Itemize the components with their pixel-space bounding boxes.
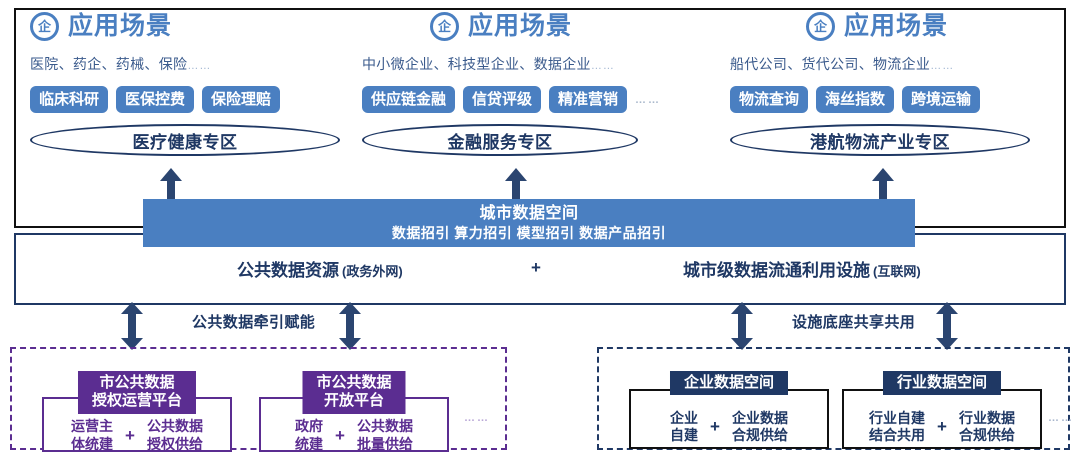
scenario-header: 企 应用场景 xyxy=(362,12,692,41)
public-data-group: 市公共数据 授权运营平台 运营主 体统建 + 公共数据 授权供给 市公共数据 开… xyxy=(10,347,507,450)
scenario-chip[interactable]: 供应链金融 xyxy=(362,86,455,113)
scenario-chip[interactable]: 保险理赔 xyxy=(202,86,280,113)
scenario-header: 企 应用场景 xyxy=(730,12,1048,41)
city-data-space-title: 城市数据空间 xyxy=(479,204,578,224)
diagram-canvas: 企 应用场景 医院、药企、药械、保险…… 临床科研 医保控费 保险理赔 医疗健康… xyxy=(0,0,1080,457)
scenario-chip[interactable]: 医保控费 xyxy=(116,86,194,113)
scenario-subtitle-text: 中小微企业、科技型企业、数据企业 xyxy=(362,56,591,72)
bi-arrow-left-outer xyxy=(120,302,144,350)
scenario-column-logistics: 企 应用场景 船代公司、货代公司、物流企业…… 物流查询 海丝指数 跨境运输 港… xyxy=(730,12,1048,172)
city-data-space-bar: 城市数据空间 数据招引 算力招引 模型招引 数据产品招引 xyxy=(143,199,915,247)
zone-ellipse-medical: 医疗健康专区 xyxy=(30,124,340,156)
unit-right-cell: 公共数据 批量供给 xyxy=(357,418,413,453)
zone-ellipse-finance: 金融服务专区 xyxy=(362,124,638,156)
public-data-resource-label: 公共数据资源 (政务外网) xyxy=(237,256,403,281)
scenario-title: 应用场景 xyxy=(468,14,572,39)
bi-arrow-right-outer xyxy=(730,302,754,350)
unit-left-cell: 政府 统建 xyxy=(295,418,323,453)
bi-arrow-right-inner xyxy=(935,302,959,350)
scenario-chip[interactable]: 海丝指数 xyxy=(816,86,894,113)
unit-header-line1: 市公共数据 xyxy=(92,374,182,392)
subtitle-ellipsis: …… xyxy=(187,60,211,72)
zone-ellipse-logistics: 港航物流产业专区 xyxy=(730,124,1030,156)
unit-header: 市公共数据 授权运营平台 xyxy=(78,371,196,414)
scenario-chip[interactable]: 临床科研 xyxy=(30,86,108,113)
subtitle-ellipsis: …… xyxy=(591,60,615,72)
unit-header-line2: 开放平台 xyxy=(316,392,391,410)
city-circulation-facility-note: (互联网) xyxy=(873,261,921,280)
unit-right-cell: 企业数据 合规供给 xyxy=(732,410,788,445)
scenario-chip[interactable]: 跨境运输 xyxy=(902,86,980,113)
connector-caption-right: 设施底座共享共用 xyxy=(792,311,915,332)
unit-header: 企业数据空间 xyxy=(670,371,788,395)
badge-glyph: 企 xyxy=(38,20,51,33)
chips-ellipsis: …… xyxy=(635,94,661,106)
city-data-space-subtitle: 数据招引 算力招引 模型招引 数据产品招引 xyxy=(392,224,666,242)
unit-header-line2: 授权运营平台 xyxy=(92,392,182,410)
subtitle-ellipsis: …… xyxy=(930,60,954,72)
scenario-chip[interactable]: 物流查询 xyxy=(730,86,808,113)
scenario-column-medical: 企 应用场景 医院、药企、药械、保险…… 临床科研 医保控费 保险理赔 医疗健康… xyxy=(30,12,340,172)
badge-glyph: 企 xyxy=(438,20,451,33)
scenario-subtitle-text: 船代公司、货代公司、物流企业 xyxy=(730,56,930,72)
public-data-resource-main: 公共数据资源 xyxy=(237,256,339,281)
unit-body: 企业 自建 + 企业数据 合规供给 xyxy=(629,389,829,449)
enterprise-circle-icon: 企 xyxy=(30,12,59,41)
unit-header: 行业数据空间 xyxy=(883,371,1001,395)
enterprise-industry-group: 企业数据空间 企业 自建 + 企业数据 合规供给 行业数据空间 行业自建 xyxy=(597,347,1070,450)
enterprise-circle-icon: 企 xyxy=(430,12,459,41)
enterprise-circle-icon: 企 xyxy=(806,12,835,41)
unit-left-cell: 运营主 体统建 xyxy=(71,418,113,453)
badge-glyph: 企 xyxy=(814,20,827,33)
up-arrow-finance xyxy=(505,168,527,202)
unit-right-cell: 行业数据 合规供给 xyxy=(959,410,1015,445)
mid-plus-sign: + xyxy=(531,258,541,278)
unit-plus: + xyxy=(937,417,947,437)
city-circulation-facility-main: 城市级数据流通利用设施 xyxy=(683,256,870,281)
group-tail-ellipsis: …… xyxy=(464,412,490,424)
scenario-subtitle: 船代公司、货代公司、物流企业…… xyxy=(730,54,1048,74)
scenario-subtitle: 中小微企业、科技型企业、数据企业…… xyxy=(362,54,692,74)
unit-plus: + xyxy=(710,417,720,437)
scenario-chip[interactable]: 精准营销 xyxy=(549,86,627,113)
unit-header-line1: 企业数据空间 xyxy=(684,374,774,392)
unit-header: 市公共数据 开放平台 xyxy=(302,371,405,414)
scenario-subtitle: 医院、药企、药械、保险…… xyxy=(30,54,340,74)
scenario-subtitle-text: 医院、药企、药械、保险 xyxy=(30,56,187,72)
zone-label: 港航物流产业专区 xyxy=(810,128,950,153)
scenario-title: 应用场景 xyxy=(844,14,948,39)
scenario-chip-list: 临床科研 医保控费 保险理赔 xyxy=(30,86,340,113)
unit-plus: + xyxy=(335,426,345,446)
unit-left-cell: 行业自建 结合共用 xyxy=(869,410,925,445)
public-data-resource-note: (政务外网) xyxy=(342,261,403,280)
scenario-chip[interactable]: 信贷评级 xyxy=(463,86,541,113)
up-arrow-medical xyxy=(160,168,182,202)
unit-plus: + xyxy=(125,426,135,446)
scenario-chip-list: 供应链金融 信贷评级 精准营销 …… xyxy=(362,86,692,113)
unit-header-line1: 市公共数据 xyxy=(316,374,391,392)
scenario-chip-list: 物流查询 海丝指数 跨境运输 xyxy=(730,86,1048,113)
scenario-column-finance: 企 应用场景 中小微企业、科技型企业、数据企业…… 供应链金融 信贷评级 精准营… xyxy=(362,12,692,172)
unit-right-cell: 公共数据 授权供给 xyxy=(147,418,203,453)
bi-arrow-left-inner xyxy=(338,302,362,350)
scenario-header: 企 应用场景 xyxy=(30,12,340,41)
unit-body: 行业自建 结合共用 + 行业数据 合规供给 xyxy=(842,389,1042,449)
group-tail-ellipsis: …… xyxy=(1048,412,1074,424)
unit-left-cell: 企业 自建 xyxy=(670,410,698,445)
zone-label: 医疗健康专区 xyxy=(133,128,238,153)
zone-label: 金融服务专区 xyxy=(448,128,553,153)
unit-header-line1: 行业数据空间 xyxy=(897,374,987,392)
scenario-title: 应用场景 xyxy=(68,14,172,39)
city-circulation-facility-label: 城市级数据流通利用设施 (互联网) xyxy=(683,256,921,281)
up-arrow-logistics xyxy=(872,168,894,202)
connector-caption-left: 公共数据牵引赋能 xyxy=(192,311,315,332)
